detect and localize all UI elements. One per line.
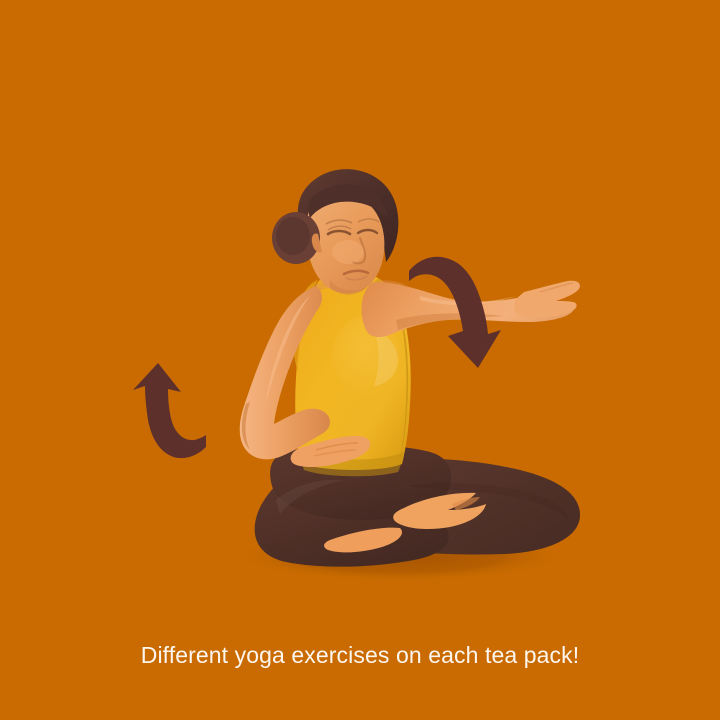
poster-canvas: Yoga for Intuition	[0, 0, 720, 720]
seated-yoga-woman-illustration	[0, 0, 720, 720]
page-subtitle: Different yoga exercises on each tea pac…	[0, 640, 720, 670]
